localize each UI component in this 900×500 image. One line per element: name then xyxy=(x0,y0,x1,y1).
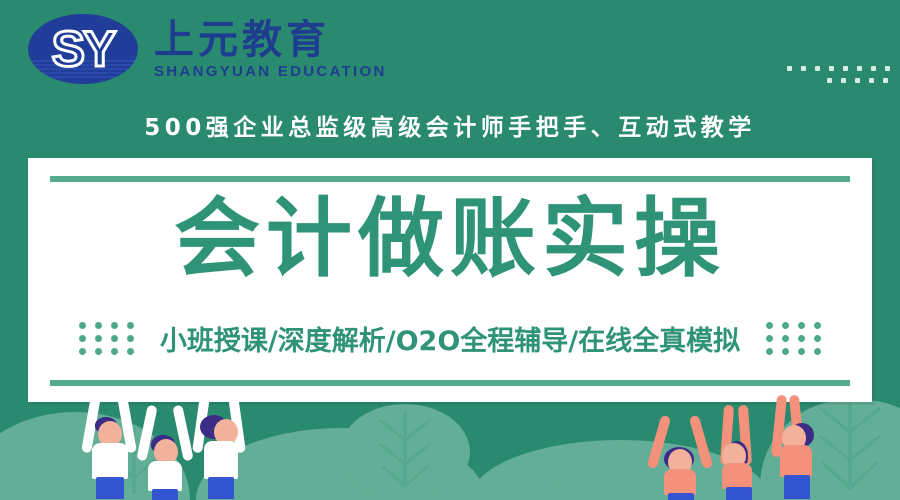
legs xyxy=(784,475,810,499)
student-figure xyxy=(652,415,710,500)
legs xyxy=(96,477,124,499)
dot-row xyxy=(766,335,821,342)
student-figure xyxy=(136,405,194,499)
dot-row xyxy=(766,348,821,355)
brand-name-en: SHANGYUAN EDUCATION xyxy=(154,63,387,80)
student-figure xyxy=(82,395,140,499)
dot-grid-left xyxy=(79,322,134,355)
student-group xyxy=(82,395,248,499)
student-group xyxy=(652,395,822,500)
legs xyxy=(726,487,752,500)
student-figure xyxy=(764,395,822,500)
legs xyxy=(668,493,694,500)
brand-name-cn: 上元教育 xyxy=(154,19,387,61)
torso xyxy=(780,445,812,477)
page-title: 会计做账实操 xyxy=(28,196,872,282)
header: SY 上元教育 SHANGYUAN EDUCATION xyxy=(0,0,900,100)
brand-logo[interactable]: SY 上元教育 SHANGYUAN EDUCATION xyxy=(28,14,387,84)
divider-bottom xyxy=(50,380,850,386)
sy-badge-icon: SY xyxy=(28,14,138,84)
sy-badge-text: SY xyxy=(52,24,115,74)
student-figure xyxy=(708,405,766,500)
dot-grid-right xyxy=(766,322,821,355)
dot-row xyxy=(79,348,134,355)
brand-names: 上元教育 SHANGYUAN EDUCATION xyxy=(154,19,387,80)
dot-row xyxy=(79,335,134,342)
content-card: 会计做账实操 小班授课/深度解析/O2O全程辅导/在线全真模拟 xyxy=(28,158,872,402)
illustration-students-right xyxy=(652,395,822,500)
subtitle-row: 小班授课/深度解析/O2O全程辅导/在线全真模拟 xyxy=(28,319,872,358)
torso xyxy=(148,461,182,491)
dot-row xyxy=(787,78,890,83)
legs xyxy=(208,477,234,499)
poster-root: SY 上元教育 SHANGYUAN EDUCATION 500强企业总监级高级会… xyxy=(0,0,900,500)
tagline: 500强企业总监级高级会计师手把手、互动式教学 xyxy=(0,108,900,142)
subtitle: 小班授课/深度解析/O2O全程辅导/在线全真模拟 xyxy=(160,319,740,358)
top-right-dot-decoration xyxy=(787,66,890,90)
student-figure xyxy=(190,395,248,499)
torso xyxy=(722,463,752,489)
leaf-icon xyxy=(362,406,448,492)
dot-row xyxy=(766,322,821,329)
dot-row xyxy=(79,322,134,329)
torso xyxy=(92,443,128,479)
legs xyxy=(152,489,178,500)
dot-row xyxy=(787,66,890,71)
torso xyxy=(664,469,696,495)
divider-top xyxy=(50,176,850,182)
torso xyxy=(204,441,238,479)
illustration-students-left xyxy=(82,395,248,500)
